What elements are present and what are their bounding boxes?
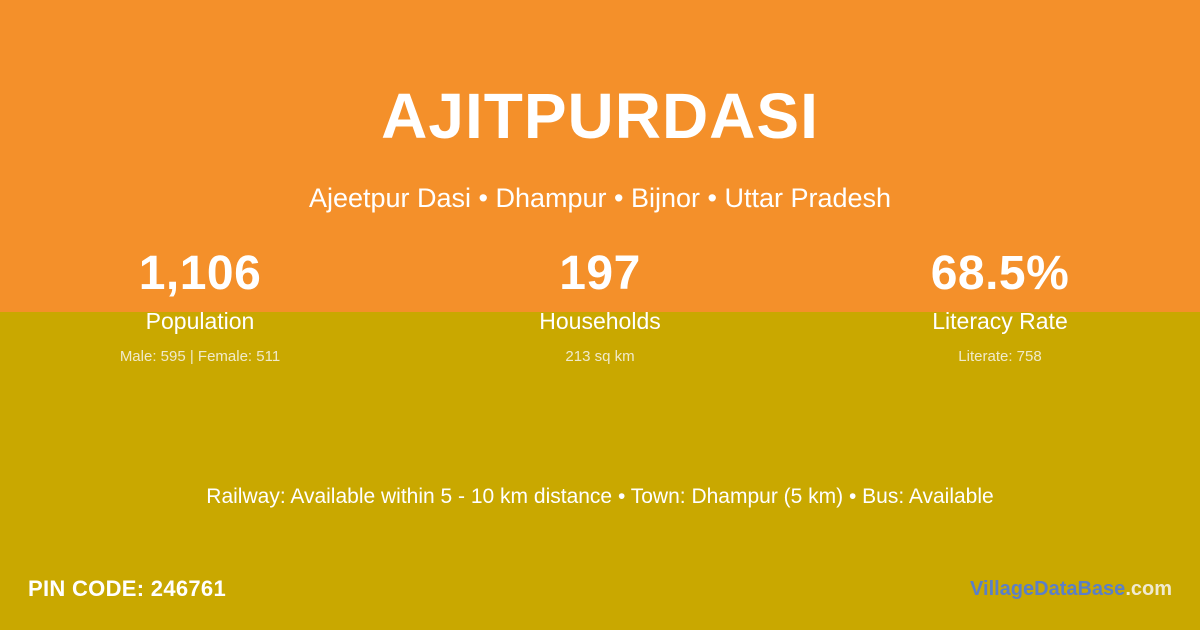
- stat-sublabel: 213 sq km: [400, 349, 800, 366]
- stat-label: Households: [400, 309, 800, 334]
- stat-value: 197: [400, 248, 800, 301]
- stat-population: 1,106 Population Male: 595 | Female: 511: [0, 248, 400, 366]
- stat-sublabel: Literate: 758: [800, 349, 1200, 366]
- stat-label: Literacy Rate: [800, 309, 1200, 334]
- stat-value: 1,106: [0, 248, 400, 301]
- stat-households: 197 Households 213 sq km: [400, 248, 800, 366]
- pin-code: PIN CODE: 246761: [28, 576, 226, 602]
- stat-literacy-rate: 68.5% Literacy Rate Literate: 758: [800, 248, 1200, 366]
- site-brand: VillageDataBase.com: [970, 578, 1172, 601]
- page-title: AJITPURDASI: [0, 84, 1200, 148]
- stat-value: 68.5%: [800, 248, 1200, 301]
- stat-sublabel: Male: 595 | Female: 511: [0, 349, 400, 366]
- village-info-card: AJITPURDASI Ajeetpur Dasi • Dhampur • Bi…: [0, 0, 1200, 630]
- location-breadcrumb: Ajeetpur Dasi • Dhampur • Bijnor • Uttar…: [0, 182, 1200, 214]
- brand-tld: .com: [1125, 578, 1172, 600]
- stat-label: Population: [0, 309, 400, 334]
- stats-row: 1,106 Population Male: 595 | Female: 511…: [0, 248, 1200, 366]
- amenities-line: Railway: Available within 5 - 10 km dist…: [0, 485, 1200, 509]
- brand-name: VillageDataBase: [970, 578, 1125, 600]
